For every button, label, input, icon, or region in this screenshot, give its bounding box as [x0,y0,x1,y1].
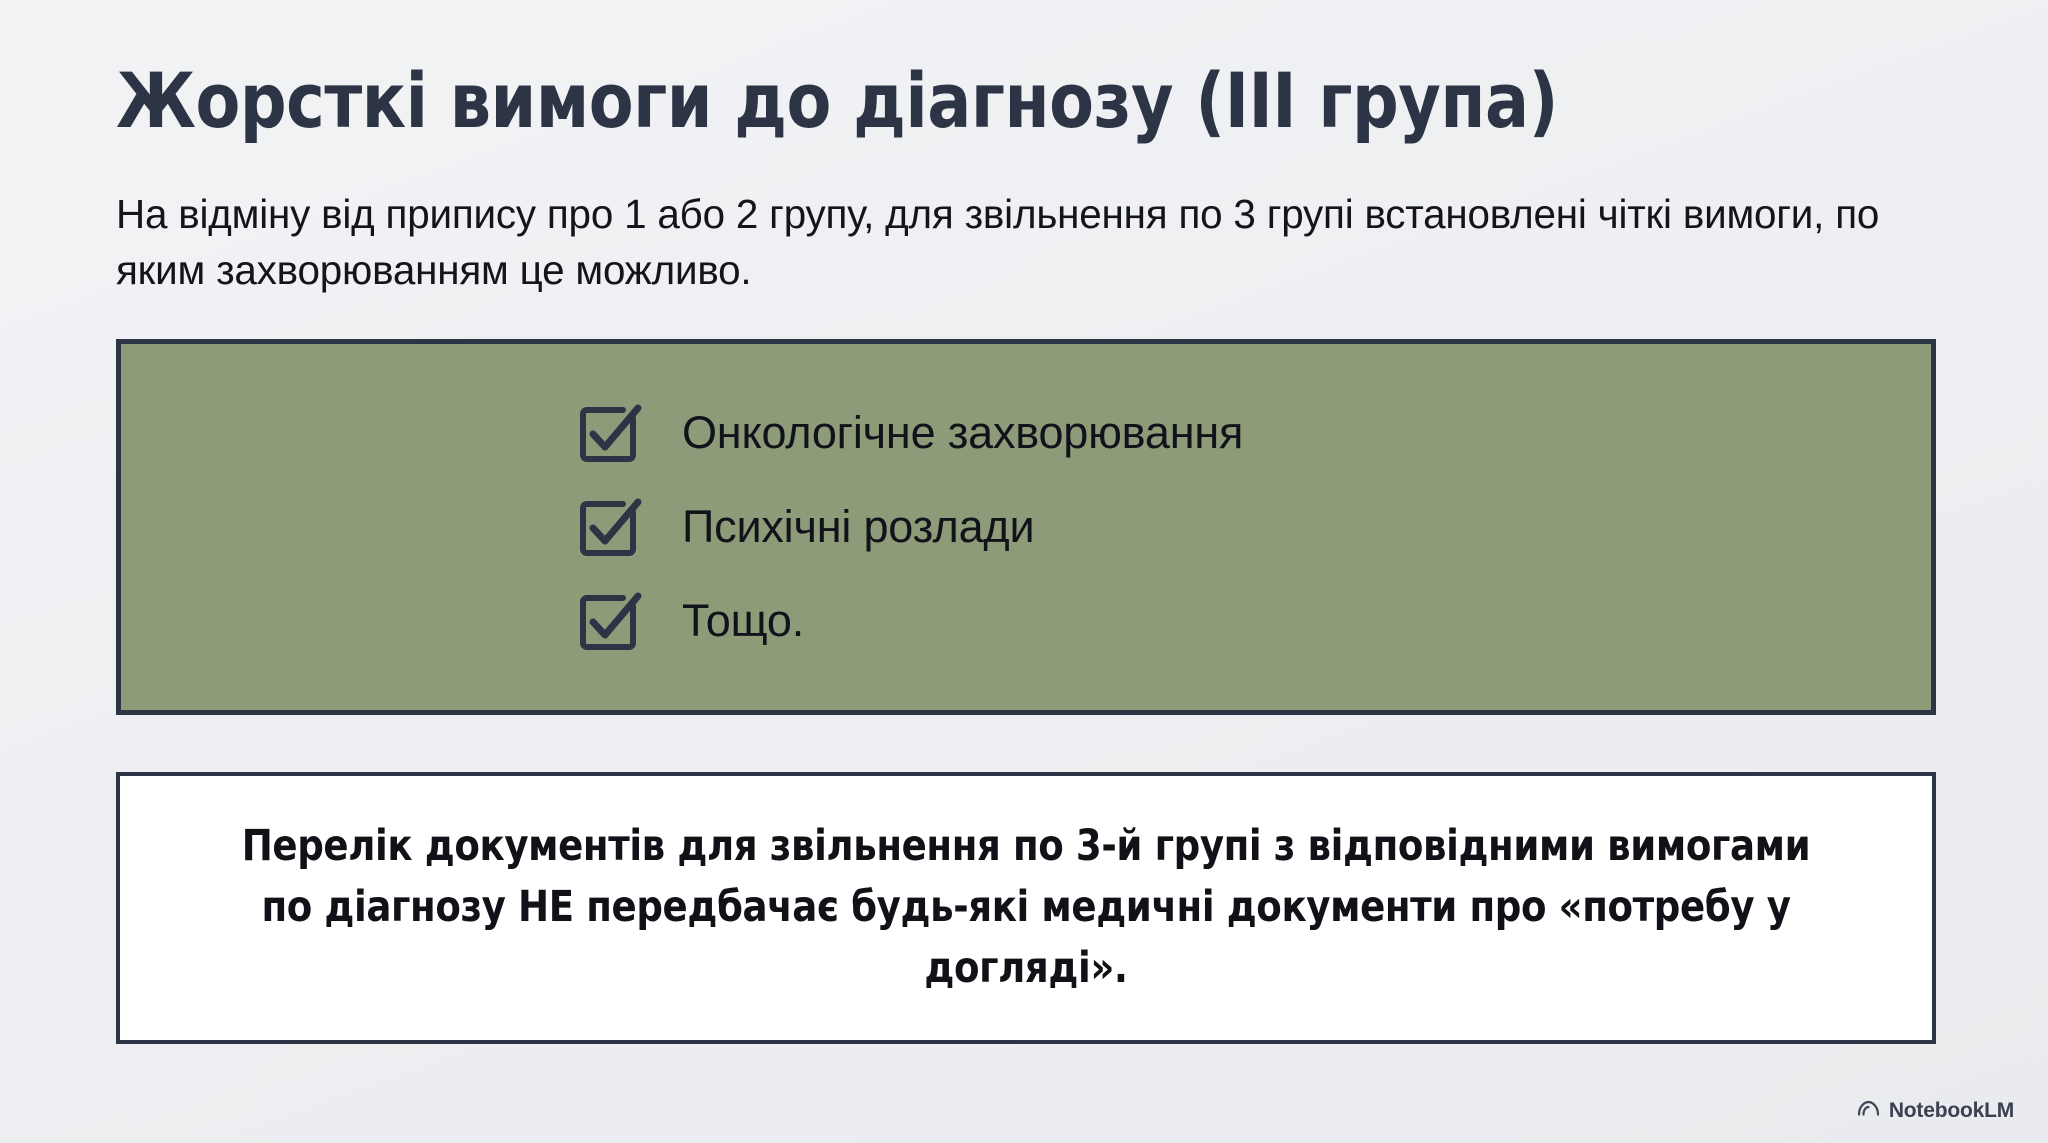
list-item[interactable]: Тощо. [576,589,1931,653]
page-title: Жорсткі вимоги до діагнозу (III група) [116,62,1854,140]
slide-canvas: Жорсткі вимоги до діагнозу (III група) Н… [0,0,2048,1143]
notebooklm-logo-icon [1857,1099,1880,1123]
checkbox-checked-icon[interactable] [576,589,640,653]
list-item-label: Тощо. [682,598,804,643]
checkbox-checked-icon[interactable] [576,401,640,465]
list-item[interactable]: Онкологічне захворювання [576,401,1931,465]
checkbox-checked-icon[interactable] [576,495,640,559]
slide-subtitle: На відміну від припису про 1 або 2 групу… [116,186,1879,299]
footer-brand: NotebookLM [1857,1099,2014,1123]
checklist-panel: Онкологічне захворювання Психічні розлад… [116,339,1936,715]
list-item-label: Психічні розлади [682,504,1034,549]
notice-text: Перелік документів для звільнення по 3-й… [214,816,1838,999]
notice-box: Перелік документів для звільнення по 3-й… [116,772,1936,1044]
footer-brand-label: NotebookLM [1889,1099,2014,1123]
list-item-label: Онкологічне захворювання [682,410,1243,455]
list-item[interactable]: Психічні розлади [576,495,1931,559]
